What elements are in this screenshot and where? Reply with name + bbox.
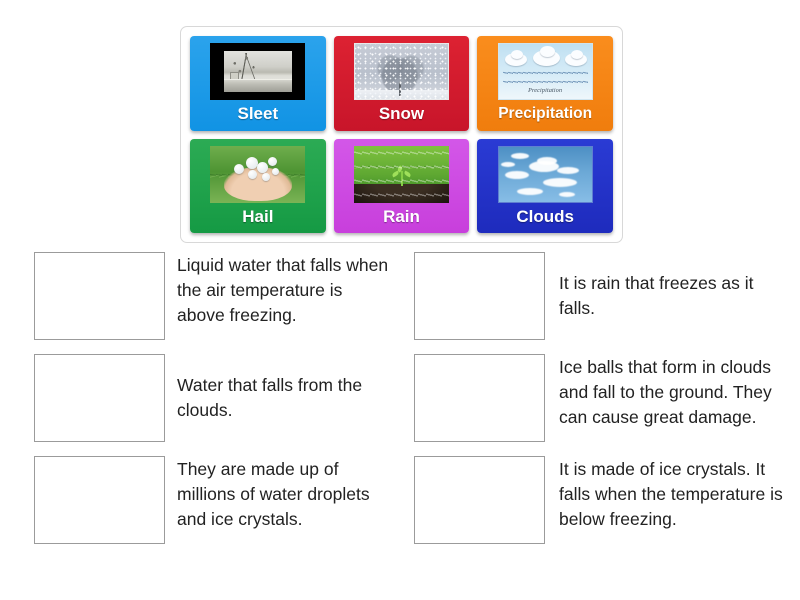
seedling-in-rain-photo	[354, 146, 449, 203]
answer-area: Liquid water that falls when the air tem…	[0, 252, 800, 558]
answer-definition: Ice balls that form in clouds and fall t…	[545, 354, 790, 430]
tile-label-snow: Snow	[379, 105, 424, 124]
tile-sleet[interactable]: Sleet	[190, 36, 326, 131]
tile-panel: Sleet Snow Precipitation Precipitation	[180, 26, 623, 243]
precipitation-image-caption: Precipitation	[499, 88, 592, 94]
tile-hail[interactable]: Hail	[190, 139, 326, 234]
cloudy-sky-photo	[498, 146, 593, 203]
drop-zone[interactable]	[34, 252, 165, 340]
tile-rain[interactable]: Rain	[334, 139, 470, 234]
answer-row: It is made of ice crystals. It falls whe…	[414, 456, 790, 544]
drop-zone[interactable]	[34, 354, 165, 442]
winter-scene-photo	[210, 43, 305, 100]
drop-zone[interactable]	[414, 354, 545, 442]
tile-clouds[interactable]: Clouds	[477, 139, 613, 234]
tile-precipitation[interactable]: Precipitation Precipitation	[477, 36, 613, 131]
tile-label-rain: Rain	[383, 208, 420, 227]
answer-column-right: It is rain that freezes as it falls. Ice…	[400, 252, 800, 558]
answer-definition: Water that falls from the clouds.	[165, 373, 390, 423]
tile-label-hail: Hail	[242, 208, 273, 227]
hailstones-in-hands-photo	[210, 146, 305, 203]
drop-zone[interactable]	[34, 456, 165, 544]
answer-row: It is rain that freezes as it falls.	[414, 252, 790, 340]
drop-zone[interactable]	[414, 456, 545, 544]
answer-row: They are made up of millions of water dr…	[34, 456, 390, 544]
tile-label-clouds: Clouds	[516, 208, 574, 227]
drop-zone[interactable]	[414, 252, 545, 340]
answer-row: Ice balls that form in clouds and fall t…	[414, 354, 790, 442]
answer-column-left: Liquid water that falls when the air tem…	[0, 252, 400, 558]
answer-definition: Liquid water that falls when the air tem…	[165, 252, 390, 328]
rain-streaks-icon	[503, 68, 588, 88]
precipitation-diagram: Precipitation	[498, 43, 593, 100]
tile-snow[interactable]: Snow	[334, 36, 470, 131]
answer-definition: It is made of ice crystals. It falls whe…	[545, 456, 790, 532]
answer-definition: They are made up of millions of water dr…	[165, 456, 390, 532]
answer-definition: It is rain that freezes as it falls.	[545, 271, 790, 321]
answer-row: Liquid water that falls when the air tem…	[34, 252, 390, 340]
tile-label-sleet: Sleet	[238, 105, 279, 124]
tile-label-precipitation: Precipitation	[498, 105, 592, 122]
answer-row: Water that falls from the clouds.	[34, 354, 390, 442]
snowy-tree-photo	[354, 43, 449, 100]
